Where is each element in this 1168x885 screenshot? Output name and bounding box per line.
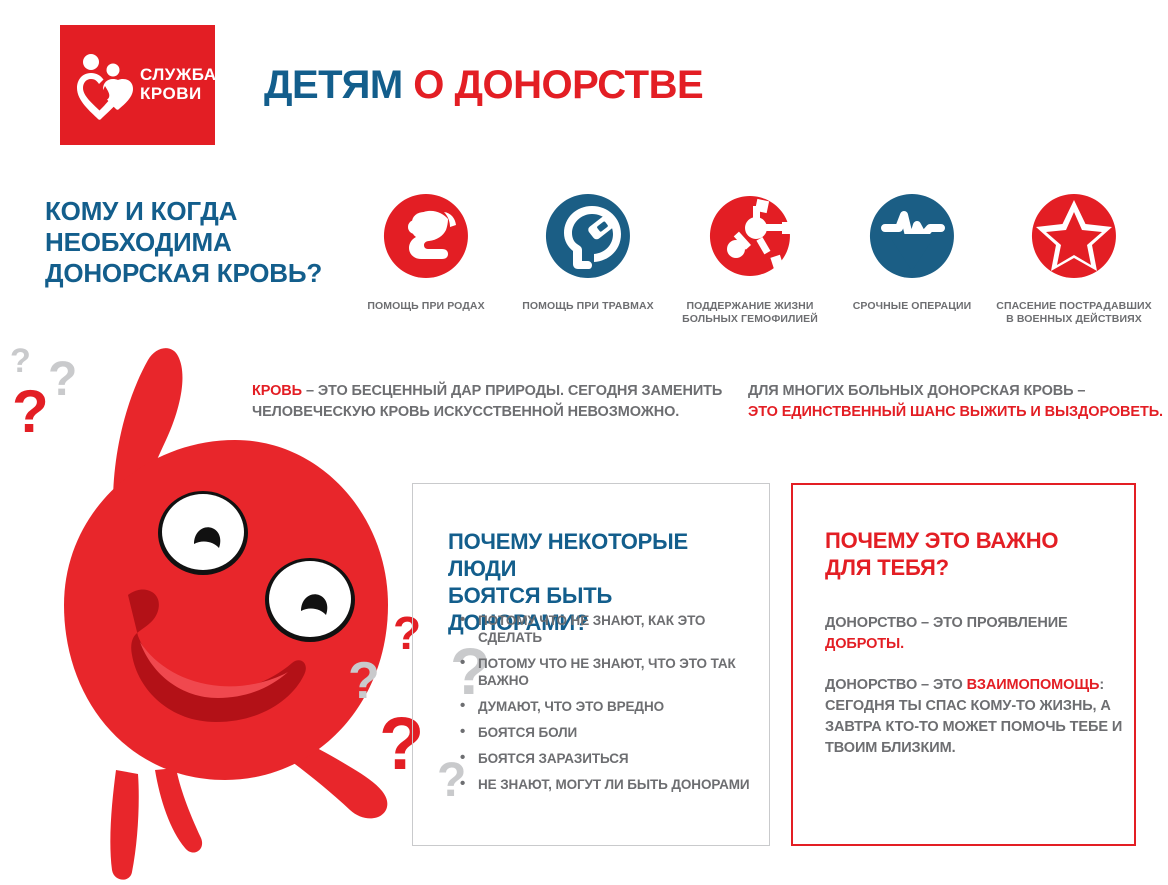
paragraph-right-plain: ДЛЯ МНОГИХ БОЛЬНЫХ ДОНОРСКАЯ КРОВЬ – bbox=[748, 383, 1085, 399]
list-item: БОЯТСЯ ЗАРАЗИТЬСЯ bbox=[458, 750, 758, 767]
why-paragraph-kindness: ДОНОРСТВО – ЭТО ПРОЯВЛЕНИЕ ДОБРОТЫ. bbox=[825, 613, 1125, 655]
fears-list: ПОТОМУ ЧТО НЕ ЗНАЮТ, КАК ЭТО СДЕЛАТЬ ПОТ… bbox=[458, 612, 758, 802]
use-case-trauma: ПОМОЩЬ ПРИ ТРАВМАХ bbox=[507, 192, 669, 313]
family-heart-icon bbox=[74, 53, 136, 121]
section-heading-line-3: ДОНОРСКАЯ КРОВЬ? bbox=[45, 258, 365, 289]
use-cases-icon-row: ПОМОЩЬ ПРИ РОДАХ ПОМОЩЬ ПРИ ТРАВМАХ bbox=[345, 192, 1155, 326]
star-icon bbox=[1030, 192, 1118, 280]
label-line-1: ПОМОЩЬ ПРИ РОДАХ bbox=[367, 300, 484, 313]
list-item: НЕ ЗНАЮТ, МОГУТ ЛИ БЫТЬ ДОНОРАМИ bbox=[458, 776, 758, 793]
why-p1-plain: ДОНОРСТВО – ЭТО ПРОЯВЛЕНИЕ bbox=[825, 615, 1068, 631]
logo-line-2: КРОВИ bbox=[140, 84, 217, 103]
why-title-line-1: ПОЧЕМУ ЭТО ВАЖНО bbox=[825, 527, 1115, 554]
paragraph-only-chance: ДЛЯ МНОГИХ БОЛЬНЫХ ДОНОРСКАЯ КРОВЬ – ЭТО… bbox=[748, 381, 1168, 423]
blood-drop-mascot bbox=[20, 330, 440, 885]
why-p2-plain-a: ДОНОРСТВО – ЭТО bbox=[825, 677, 967, 693]
page-title: ДЕТЯМ О ДОНОРСТВЕ bbox=[264, 63, 703, 108]
label-line-1: ПОДДЕРЖАНИЕ ЖИЗНИ bbox=[682, 300, 818, 313]
page-title-red: О ДОНОРСТВЕ bbox=[413, 63, 703, 107]
section-heading-line-2: НЕОБХОДИМА bbox=[45, 227, 365, 258]
fears-title-line-1: ПОЧЕМУ НЕКОТОРЫЕ ЛЮДИ bbox=[448, 528, 758, 582]
why-important-panel: ПОЧЕМУ ЭТО ВАЖНО ДЛЯ ТЕБЯ? ДОНОРСТВО – Э… bbox=[791, 483, 1136, 846]
page-title-blue: ДЕТЯМ bbox=[264, 63, 413, 107]
use-case-military: СПАСЕНИЕ ПОСТРАДАВШИХ В ВОЕННЫХ ДЕЙСТВИЯ… bbox=[993, 192, 1155, 326]
label-line-1: СРОЧНЫЕ ОПЕРАЦИИ bbox=[853, 300, 972, 313]
use-case-birth-label: ПОМОЩЬ ПРИ РОДАХ bbox=[367, 300, 484, 313]
label-line-2: В ВОЕННЫХ ДЕЙСТВИЯХ bbox=[996, 313, 1151, 326]
logo-line-1: СЛУЖБА bbox=[140, 65, 217, 84]
list-item: БОЯТСЯ БОЛИ bbox=[458, 724, 758, 741]
section-heading: КОМУ И КОГДА НЕОБХОДИМА ДОНОРСКАЯ КРОВЬ? bbox=[45, 196, 365, 289]
use-case-hemophilia-label: ПОДДЕРЖАНИЕ ЖИЗНИ БОЛЬНЫХ ГЕМОФИЛИЕЙ bbox=[682, 300, 818, 326]
question-mark-decoration: ? bbox=[48, 356, 77, 404]
brand-logo-box: СЛУЖБА КРОВИ bbox=[60, 25, 215, 145]
list-item: ДУМАЮТ, ЧТО ЭТО ВРЕДНО bbox=[458, 698, 758, 715]
list-item: ПОТОМУ ЧТО НЕ ЗНАЮТ, КАК ЭТО СДЕЛАТЬ bbox=[458, 612, 758, 646]
question-mark-decoration: ? bbox=[348, 655, 380, 707]
heart-pulse-icon bbox=[868, 192, 956, 280]
baby-birth-icon bbox=[382, 192, 470, 280]
paragraph-right-highlight: ЭТО ЕДИНСТВЕННЫЙ ШАНС ВЫЖИТЬ И ВЫЗДОРОВЕ… bbox=[748, 404, 1163, 420]
molecule-icon bbox=[706, 192, 794, 280]
label-line-1: СПАСЕНИЕ ПОСТРАДАВШИХ bbox=[996, 300, 1151, 313]
question-mark-decoration: ? bbox=[10, 344, 31, 378]
brand-logo-wordmark: СЛУЖБА КРОВИ bbox=[140, 65, 217, 103]
use-case-surgery: СРОЧНЫЕ ОПЕРАЦИИ bbox=[831, 192, 993, 313]
why-title-line-2: ДЛЯ ТЕБЯ? bbox=[825, 554, 1115, 581]
section-heading-line-1: КОМУ И КОГДА bbox=[45, 196, 365, 227]
use-case-trauma-label: ПОМОЩЬ ПРИ ТРАВМАХ bbox=[522, 300, 654, 313]
use-case-surgery-label: СРОЧНЫЕ ОПЕРАЦИИ bbox=[853, 300, 972, 313]
why-panel-title: ПОЧЕМУ ЭТО ВАЖНО ДЛЯ ТЕБЯ? bbox=[825, 527, 1115, 581]
why-paragraph-mutual-aid: ДОНОРСТВО – ЭТО ВЗАИМОПОМОЩЬ: СЕГОДНЯ ТЫ… bbox=[825, 675, 1125, 759]
why-p1-highlight: ДОБРОТЫ. bbox=[825, 636, 904, 652]
use-case-birth: ПОМОЩЬ ПРИ РОДАХ bbox=[345, 192, 507, 313]
label-line-1: ПОМОЩЬ ПРИ ТРАВМАХ bbox=[522, 300, 654, 313]
why-p2-highlight: ВЗАИМОПОМОЩЬ bbox=[967, 677, 1100, 693]
question-mark-decoration: ? bbox=[12, 382, 49, 442]
label-line-2: БОЛЬНЫХ ГЕМОФИЛИЕЙ bbox=[682, 313, 818, 326]
fears-panel: ПОЧЕМУ НЕКОТОРЫЕ ЛЮДИ БОЯТСЯ БЫТЬ ДОНОРА… bbox=[412, 483, 770, 846]
use-case-hemophilia: ПОДДЕРЖАНИЕ ЖИЗНИ БОЛЬНЫХ ГЕМОФИЛИЕЙ bbox=[669, 192, 831, 326]
list-item: ПОТОМУ ЧТО НЕ ЗНАЮТ, ЧТО ЭТО ТАК ВАЖНО bbox=[458, 655, 758, 689]
head-bandage-icon bbox=[544, 192, 632, 280]
use-case-military-label: СПАСЕНИЕ ПОСТРАДАВШИХ В ВОЕННЫХ ДЕЙСТВИЯ… bbox=[996, 300, 1151, 326]
